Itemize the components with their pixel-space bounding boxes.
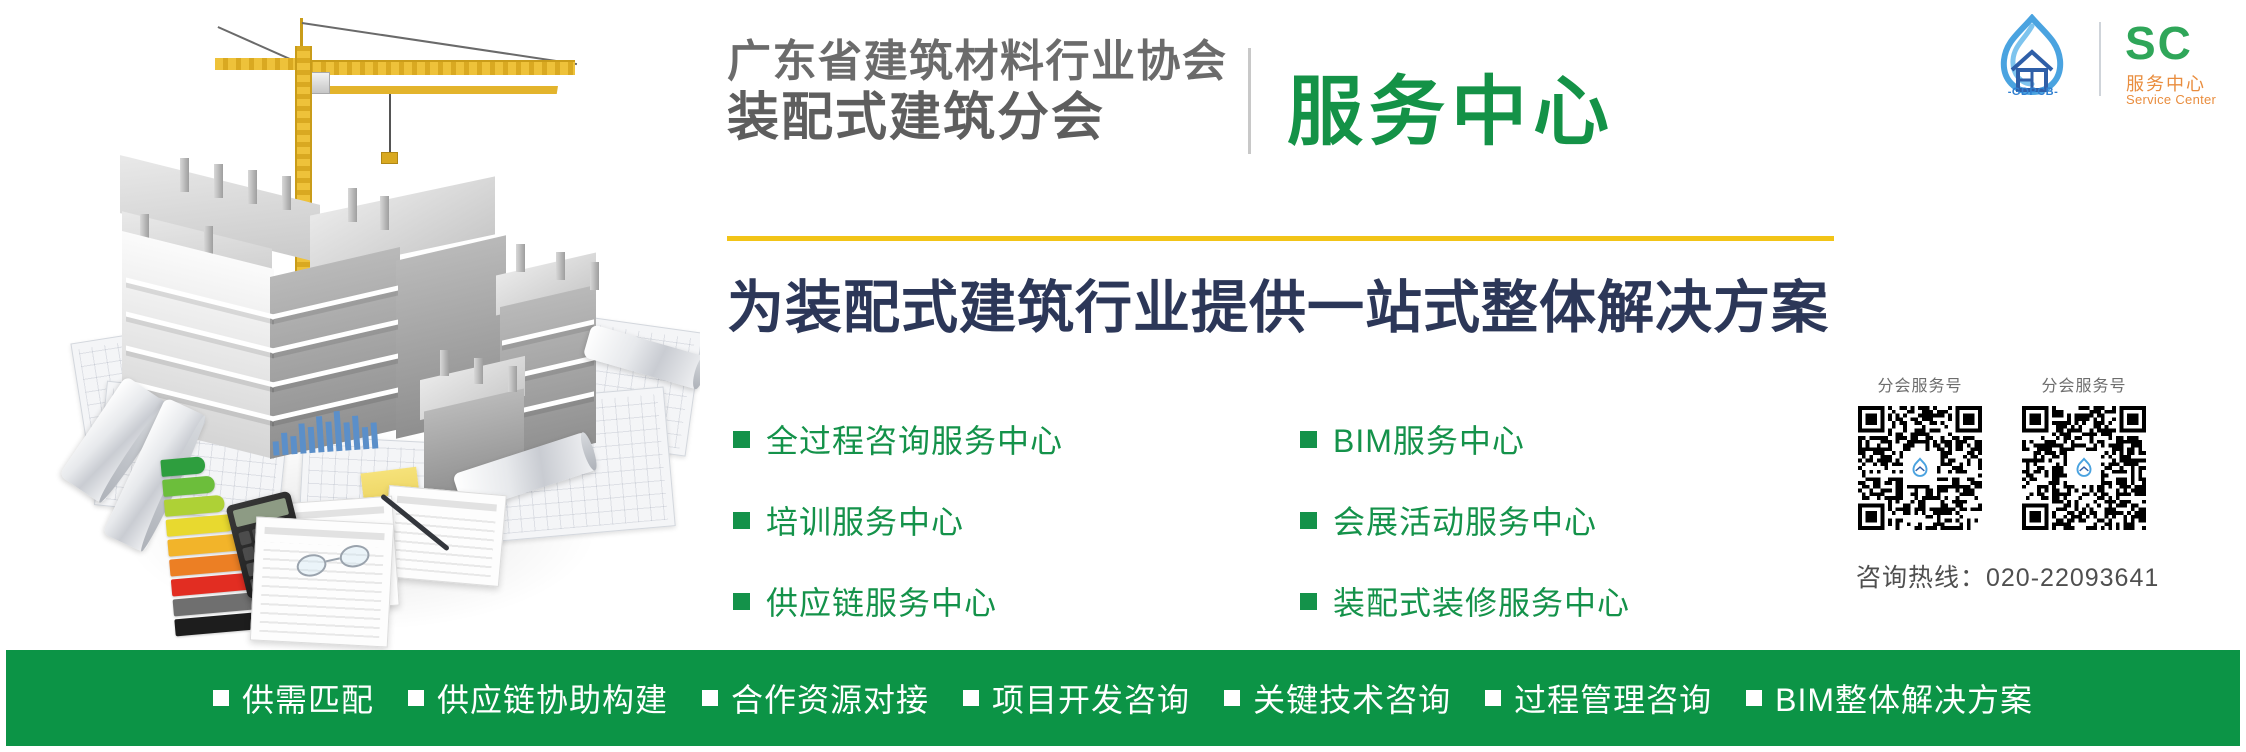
crane-hook-line: [389, 94, 391, 156]
bottom-bar-label: 关键技术咨询: [1253, 675, 1451, 721]
qr-code-image[interactable]: [2022, 406, 2146, 530]
hotline-text: 咨询热线：020-22093641: [1856, 558, 2159, 594]
rebar-column: [474, 358, 483, 384]
crane-counter-jib: [215, 58, 299, 70]
service-item[interactable]: 供应链服务中心: [733, 578, 1063, 624]
bottom-bar-label: 供需匹配: [242, 675, 374, 721]
rebar-column: [180, 158, 189, 192]
rebar-column: [380, 196, 389, 230]
bottom-bar-item[interactable]: 关键技术咨询: [1224, 675, 1451, 721]
square-bullet-icon: [1300, 593, 1317, 610]
qr-caption: 分会服务号: [2022, 372, 2146, 396]
qr-code-image[interactable]: [1858, 406, 1982, 530]
main-headline: 为装配式建筑行业提供一站式整体解决方案: [727, 262, 1829, 344]
bottom-bar-label: 供应链协助构建: [437, 675, 668, 721]
hero-construction-image: [0, 0, 700, 650]
square-bullet-icon: [702, 690, 718, 706]
association-name-line2: 装配式建筑分会: [727, 90, 1228, 146]
square-bullet-icon: [1300, 431, 1317, 448]
square-bullet-icon: [733, 431, 750, 448]
rebar-column: [556, 252, 565, 280]
title-divider: [1248, 48, 1251, 154]
rebar-column: [508, 366, 517, 392]
bottom-bar-label: BIM整体解决方案: [1775, 675, 2033, 721]
qr-code-block[interactable]: 分会服务号: [1858, 372, 1982, 530]
bottom-bar-item[interactable]: 项目开发咨询: [963, 675, 1190, 721]
rebar-column: [440, 350, 449, 376]
service-label: BIM服务中心: [1333, 416, 1525, 462]
service-label: 全过程咨询服务中心: [766, 416, 1063, 462]
brand-logo[interactable]: -GDPCB- SC 服务中心 Service Center: [1982, 14, 2232, 110]
rebar-column: [214, 164, 223, 198]
crane-jib-lower-chord: [299, 86, 558, 94]
bottom-bar-item[interactable]: 供应链协助构建: [408, 675, 668, 721]
form-document: [381, 485, 507, 587]
service-item[interactable]: BIM服务中心: [1300, 416, 1630, 462]
bottom-bar-item[interactable]: 供需匹配: [213, 675, 374, 721]
service-label: 会展活动服务中心: [1333, 497, 1597, 543]
square-bullet-icon: [963, 690, 979, 706]
bottom-bar-item[interactable]: 过程管理咨询: [1485, 675, 1712, 721]
service-label: 装配式装修服务中心: [1333, 578, 1630, 624]
rebar-column: [516, 244, 525, 272]
service-item[interactable]: 会展活动服务中心: [1300, 497, 1630, 543]
bottom-bar-label: 项目开发咨询: [992, 675, 1190, 721]
qr-code-block[interactable]: 分会服务号: [2022, 372, 2146, 530]
service-label: 培训服务中心: [766, 497, 964, 543]
square-bullet-icon: [733, 593, 750, 610]
crane-jib: [300, 60, 575, 75]
service-item[interactable]: 培训服务中心: [733, 497, 1063, 543]
qr-center-logo-icon: [2069, 453, 2099, 483]
rebar-column: [590, 262, 599, 290]
service-list-left: 全过程咨询服务中心 培训服务中心 供应链服务中心: [733, 416, 1063, 659]
square-bullet-icon: [1485, 690, 1501, 706]
rebar-column: [282, 176, 291, 210]
square-bullet-icon: [213, 690, 229, 706]
logo-english-text: Service Center: [2126, 92, 2216, 107]
rebar-column: [248, 170, 257, 204]
logo-divider: [2099, 22, 2101, 96]
qr-center-logo-icon: [1905, 453, 1935, 483]
service-center-title: 服务中心: [1287, 50, 1615, 160]
bottom-bar-label: 过程管理咨询: [1514, 675, 1712, 721]
service-label: 供应链服务中心: [766, 578, 997, 624]
qr-code-area: 分会服务号 分会服务号: [1858, 372, 2228, 530]
service-item[interactable]: 装配式装修服务中心: [1300, 578, 1630, 624]
logo-mark-caption: -GDPCB-: [1986, 86, 2080, 98]
square-bullet-icon: [1224, 690, 1240, 706]
bottom-bar-label: 合作资源对接: [731, 675, 929, 721]
bar-chart-graphic: [271, 406, 379, 455]
square-bullet-icon: [1746, 690, 1762, 706]
service-list-right: BIM服务中心 会展活动服务中心 装配式装修服务中心: [1300, 416, 1630, 659]
crane-hook-block: [381, 152, 398, 164]
square-bullet-icon: [1300, 512, 1317, 529]
rebar-column: [348, 188, 357, 222]
service-item[interactable]: 全过程咨询服务中心: [733, 416, 1063, 462]
qr-caption: 分会服务号: [1858, 372, 1982, 396]
square-bullet-icon: [408, 690, 424, 706]
logo-sc-text: SC: [2125, 20, 2193, 66]
association-name-line1: 广东省建筑材料行业协会: [727, 38, 1228, 86]
gold-divider-rule: [727, 236, 1834, 241]
bottom-service-bar: 供需匹配 供应链协助构建 合作资源对接 项目开发咨询 关键技术咨询 过程管理咨询…: [6, 650, 2240, 746]
banner-root: 广东省建筑材料行业协会 装配式建筑分会 服务中心 为装配式建筑行业提供一站式整体…: [0, 0, 2246, 752]
bottom-bar-item[interactable]: BIM整体解决方案: [1746, 675, 2033, 721]
bottom-bar-item[interactable]: 合作资源对接: [702, 675, 929, 721]
association-title-block: 广东省建筑材料行业协会 装配式建筑分会: [727, 38, 1228, 146]
square-bullet-icon: [733, 512, 750, 529]
